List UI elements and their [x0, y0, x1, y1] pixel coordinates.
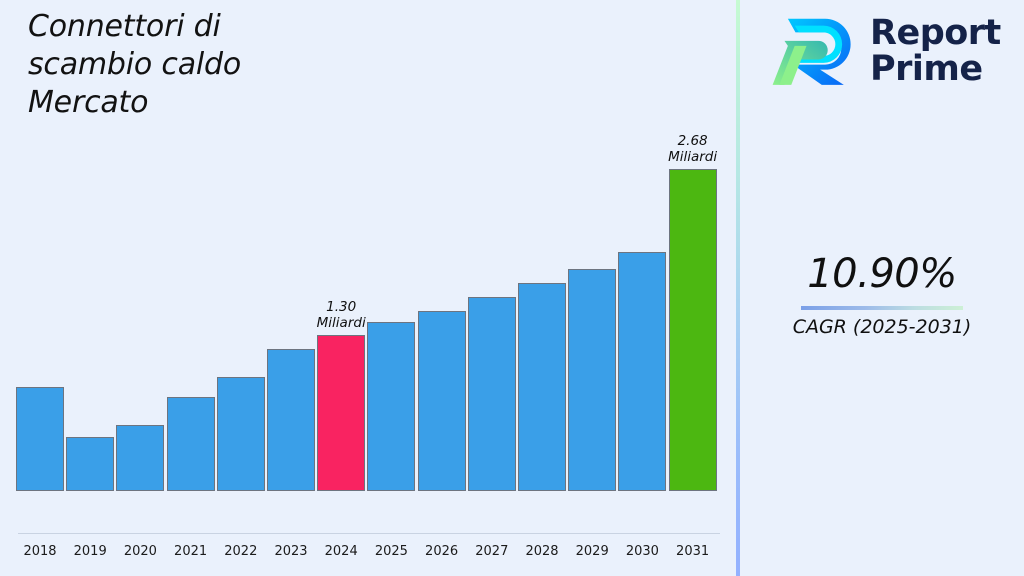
bar-2022[interactable] — [217, 377, 265, 491]
bar-2025[interactable] — [367, 322, 415, 491]
report-prime-logo-mark — [772, 12, 858, 90]
x-tick-2019: 2019 — [62, 544, 118, 559]
logo-wordmark: Report Prime — [870, 15, 1001, 87]
bar-rect-2019[interactable] — [66, 437, 114, 491]
x-tick-2022: 2022 — [213, 544, 269, 559]
x-tick-2018: 2018 — [12, 544, 68, 559]
cagr-value: 10.90% — [740, 248, 1024, 300]
report-prime-logo[interactable]: Report Prime — [772, 12, 1001, 90]
cagr-block: 10.90% CAGR (2025-2031) — [740, 248, 1024, 339]
x-tick-2020: 2020 — [112, 544, 168, 559]
bar-rect-2022[interactable] — [217, 377, 265, 491]
bar-2029[interactable] — [568, 269, 616, 491]
brand-panel: Report Prime 10.90% CAGR (2025-2031) — [740, 0, 1024, 576]
infographic-root: Connettori di scambio caldo Mercato 1.30… — [0, 0, 1024, 576]
x-tick-2029: 2029 — [564, 544, 620, 559]
bar-2027[interactable] — [468, 297, 516, 491]
bar-rect-2026[interactable] — [418, 311, 466, 491]
bar-2020[interactable] — [116, 425, 164, 491]
bar-2024[interactable]: 1.30 Miliardi — [317, 335, 365, 491]
bar-rect-2023[interactable] — [267, 349, 315, 491]
x-tick-2027: 2027 — [464, 544, 520, 559]
bar-rect-2021[interactable] — [167, 397, 215, 491]
x-tick-2030: 2030 — [614, 544, 670, 559]
bar-2019[interactable] — [66, 437, 114, 491]
x-tick-2021: 2021 — [163, 544, 219, 559]
x-tick-2025: 2025 — [363, 544, 419, 559]
bar-rect-2028[interactable] — [518, 283, 566, 491]
cagr-divider-rule — [801, 306, 963, 310]
x-axis-line — [18, 533, 720, 534]
bar-rect-2025[interactable] — [367, 322, 415, 491]
bar-2018[interactable] — [16, 387, 64, 491]
bar-value-label-2031: 2.68 Miliardi — [645, 133, 741, 165]
bar-rect-2029[interactable] — [568, 269, 616, 491]
x-tick-2023: 2023 — [263, 544, 319, 559]
bar-rect-2031[interactable] — [669, 169, 717, 491]
bar-2028[interactable] — [518, 283, 566, 491]
bar-2031[interactable]: 2.68 Miliardi — [669, 169, 717, 491]
bar-rect-2027[interactable] — [468, 297, 516, 491]
x-tick-2026: 2026 — [414, 544, 470, 559]
bar-rect-2024[interactable] — [317, 335, 365, 491]
bar-2021[interactable] — [167, 397, 215, 491]
chart-panel: Connettori di scambio caldo Mercato 1.30… — [0, 0, 738, 576]
bar-rect-2018[interactable] — [16, 387, 64, 491]
x-tick-2024: 2024 — [313, 544, 369, 559]
bar-rect-2020[interactable] — [116, 425, 164, 491]
bar-chart-plot-area: 1.30 Miliardi2.68 Miliardi — [0, 0, 738, 534]
bar-rect-2030[interactable] — [618, 252, 666, 491]
bar-2026[interactable] — [418, 311, 466, 491]
x-tick-2028: 2028 — [514, 544, 570, 559]
bar-2030[interactable] — [618, 252, 666, 491]
x-tick-2031: 2031 — [665, 544, 721, 559]
cagr-caption: CAGR (2025-2031) — [740, 315, 1024, 339]
bar-2023[interactable] — [267, 349, 315, 491]
